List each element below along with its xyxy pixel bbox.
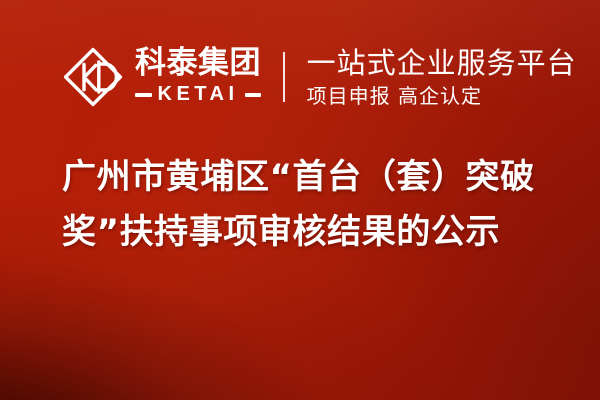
brand-name-en-row: KETAI [135, 83, 261, 106]
brand-name-cn: 科泰集团 [135, 48, 261, 80]
ketai-logo-icon [62, 46, 124, 108]
header-divider [283, 52, 285, 102]
brand-wordmark: 科泰集团 KETAI [135, 48, 261, 107]
wordmark-rule-left [135, 93, 152, 97]
banner-header: 科泰集团 KETAI 一站式企业服务平台 项目申报 高企认定 [62, 38, 577, 116]
brand-name-en: KETAI [158, 83, 239, 106]
page-title-line-2: ”扶持事项审核结果的公示 [97, 212, 501, 252]
announcement-banner: 科泰集团 KETAI 一站式企业服务平台 项目申报 高企认定 广州市黄埔区“首台… [0, 0, 600, 400]
tagline-main: 一站式企业服务平台 [307, 47, 577, 79]
page-title: 广州市黄埔区“首台（套）突破奖”扶持事项审核结果的公示 [62, 150, 572, 260]
wordmark-rule-right [245, 93, 262, 97]
brand-lockup[interactable]: 科泰集团 KETAI [62, 46, 261, 108]
tagline-block: 一站式企业服务平台 项目申报 高企认定 [307, 47, 577, 106]
tagline-sub: 项目申报 高企认定 [307, 85, 577, 107]
